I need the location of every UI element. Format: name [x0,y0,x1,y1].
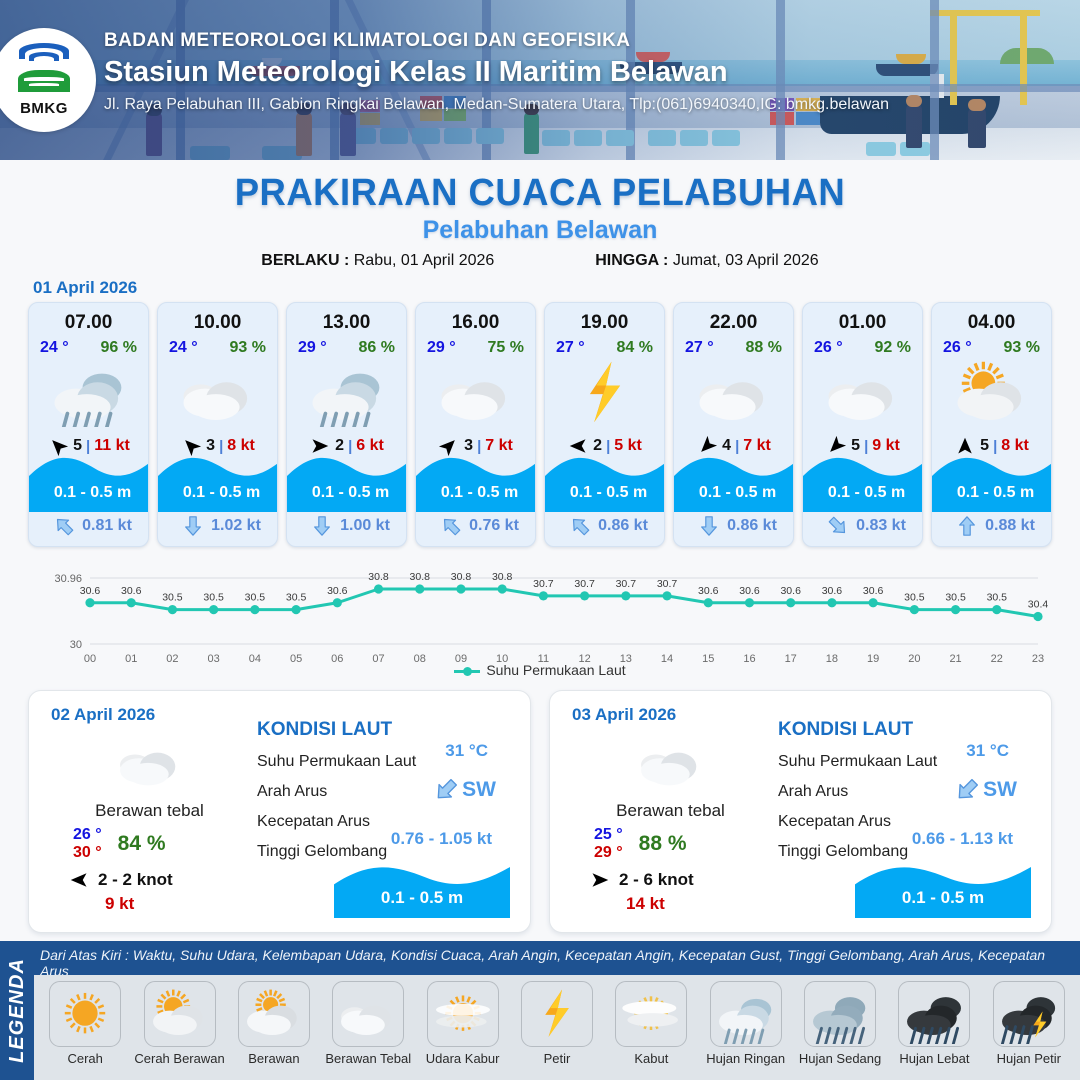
daily-weather-icon-berawan-tebal [568,735,773,793]
card-wave-graphic [416,450,536,512]
legend-item: Hujan Petir [982,981,1076,1066]
card-wave-graphic [674,450,794,512]
daily-weather-icon-berawan-tebal [47,735,252,793]
daily-wave-height: 0.1 - 0.5 m [855,888,1031,908]
legend-item: Cerah [38,981,132,1066]
daily-temp-min: 25 ° [594,826,623,843]
svg-text:30.96: 30.96 [54,573,82,585]
card-current-row: 0.88 kt [932,512,1052,540]
current-direction-value: SW [983,778,1017,802]
legend-icon-udara-kabur [427,981,499,1047]
daily-forecast-panel[interactable]: 03 April 2026 Berawan tebal 25 ° 29 ° 88… [549,690,1052,933]
current-speed-value: 0.66 - 1.13 kt [912,829,1013,849]
card-wave-height: 0.1 - 0.5 m [803,484,923,502]
valid-until-value: Jumat, 03 April 2026 [673,252,819,269]
svg-text:30.7: 30.7 [616,578,637,590]
legend-icon-hujan-ringan [710,981,782,1047]
forecast-card[interactable]: 16.00 29 ° 75 % 3 | 7 kt 0.1 - 0.5 m 0.7… [415,302,536,547]
daily-panel-row: 02 April 2026 Berawan tebal 26 ° 30 ° 84… [28,690,1052,933]
valid-until-label: HINGGA : [595,252,668,269]
legend-icon-hujan-sedang [804,981,876,1047]
card-time: 16.00 [452,312,500,334]
card-current-row: 1.00 kt [287,512,407,540]
wind-direction-arrow-icon [588,871,612,889]
card-current-speed: 1.02 kt [211,517,261,535]
card-current-row: 1.02 kt [158,512,278,540]
card-weather-icon-hujan-ringan [287,359,406,431]
card-wave-height: 0.1 - 0.5 m [932,484,1052,502]
card-wave-graphic [29,450,149,512]
legend-item: Hujan Sedang [793,981,887,1066]
forecast-card[interactable]: 04.00 26 ° 93 % 5 | 8 kt 0.1 - 0.5 m 0.8… [931,302,1052,547]
card-humidity: 93 % [1004,339,1040,357]
header-text-block: BADAN METEOROLOGI KLIMATOLOGI DAN GEOFIS… [104,30,1064,114]
current-direction-block: SW [433,777,496,803]
svg-text:30.6: 30.6 [80,585,101,597]
legend-item: Hujan Ringan [699,981,793,1066]
card-current-row: 0.81 kt [29,512,149,540]
svg-text:30.5: 30.5 [286,592,307,604]
wind-direction-arrow-icon [67,871,91,889]
page-subtitle: Pelabuhan Belawan [0,216,1080,245]
svg-text:30.6: 30.6 [698,585,719,597]
daily-wind-row: 2 - 6 knot [568,870,773,890]
daily-wind-range: 2 - 6 knot [619,870,694,890]
station-name: Stasiun Meteorologi Kelas II Maritim Bel… [104,56,1064,89]
legend-item: Berawan Tebal [321,981,415,1066]
daily-date: 02 April 2026 [51,705,155,725]
svg-text:30.6: 30.6 [121,585,142,597]
daily-wave-height: 0.1 - 0.5 m [334,888,510,908]
card-current-speed: 1.00 kt [340,517,390,535]
legend-item-label: Berawan Tebal [325,1051,411,1066]
sea-conditions-title: KONDISI LAUT [257,719,518,741]
card-current-speed: 0.81 kt [82,517,132,535]
card-wave-graphic [932,450,1052,512]
card-temperature: 26 ° [943,339,972,357]
daily-sea-conditions: KONDISI LAUT Suhu Permukaan Laut Arah Ar… [778,719,1039,924]
forecast-card[interactable]: 22.00 27 ° 88 % 4 | 7 kt 0.1 - 0.5 m 0.8… [673,302,794,547]
card-current-speed: 0.76 kt [469,517,519,535]
svg-text:30.6: 30.6 [780,585,801,597]
svg-text:30.8: 30.8 [492,571,513,583]
svg-text:30.5: 30.5 [162,592,183,604]
card-wave-height: 0.1 - 0.5 m [674,484,794,502]
svg-text:30: 30 [70,639,82,651]
logo-text: BMKG [20,100,68,117]
forecast-date-label: 01 April 2026 [33,278,137,298]
legend-item-label: Hujan Sedang [799,1051,881,1066]
current-direction-arrow-icon [954,777,980,803]
card-current-speed: 0.88 kt [985,517,1035,535]
card-temperature: 24 ° [169,339,198,357]
card-time: 22.00 [710,312,758,334]
card-weather-icon-hujan-ringan [29,359,148,431]
legend-item-label: Hujan Petir [997,1051,1061,1066]
svg-text:30.5: 30.5 [245,592,266,604]
card-temperature: 26 ° [814,339,843,357]
daily-wind-row: 2 - 2 knot [47,870,252,890]
card-weather-icon-berawan-tebal [158,359,277,431]
valid-from-label: BERLAKU : [261,252,349,269]
legend-item-label: Udara Kabur [426,1051,500,1066]
daily-condition: Berawan tebal [568,801,773,821]
svg-text:30.7: 30.7 [533,578,554,590]
card-time: 07.00 [65,312,113,334]
header-banner: BMKG BADAN METEOROLOGI KLIMATOLOGI DAN G… [0,0,1080,160]
card-humidity: 92 % [875,339,911,357]
card-time: 04.00 [968,312,1016,334]
forecast-card[interactable]: 13.00 29 ° 86 % 2 | 6 kt 0.1 - 0.5 m 1.0… [286,302,407,547]
svg-text:30.7: 30.7 [574,578,595,590]
chart-legend: Suhu Permukaan Laut [0,662,1080,678]
daily-temp-max: 29 ° [594,844,623,861]
card-weather-icon-cerah-berawan [932,359,1051,431]
svg-text:30.8: 30.8 [410,571,431,583]
page-title: PRAKIRAAN CUACA PELABUHAN [22,172,1059,215]
current-direction-arrow-icon [956,514,978,538]
legend-icon-petir [521,981,593,1047]
card-current-row: 0.83 kt [803,512,923,540]
card-weather-icon-berawan-tebal [803,359,922,431]
svg-text:30.5: 30.5 [203,592,224,604]
current-direction-arrow-icon [182,514,204,538]
current-direction-arrow-icon [827,514,849,538]
forecast-card-row: 07.00 24 ° 96 % 5 | 11 kt 0.1 - 0.5 m 0.… [28,302,1052,547]
current-direction-arrow-icon [569,514,591,538]
card-wave-height: 0.1 - 0.5 m [416,484,536,502]
daily-forecast-panel[interactable]: 02 April 2026 Berawan tebal 26 ° 30 ° 84… [28,690,531,933]
card-humidity: 96 % [101,339,137,357]
card-wave-graphic [803,450,923,512]
legend-icon-hujan-lebat [898,981,970,1047]
card-temperature: 27 ° [556,339,585,357]
forecast-card[interactable]: 07.00 24 ° 96 % 5 | 11 kt 0.1 - 0.5 m 0.… [28,302,149,547]
legend-item: Kabut [604,981,698,1066]
legend-item: Cerah Berawan [132,981,226,1066]
daily-temperature-block: 26 ° 30 ° 84 % [47,826,252,863]
card-temperature: 29 ° [298,339,327,357]
legend-icon-cerah [49,981,121,1047]
forecast-card[interactable]: 19.00 27 ° 84 % 2 | 5 kt 0.1 - 0.5 m 0.8… [544,302,665,547]
svg-text:30.5: 30.5 [904,592,925,604]
daily-humidity: 88 % [639,832,687,856]
daily-humidity: 84 % [118,832,166,856]
station-address: Jl. Raya Pelabuhan III, Gabion Ringkai B… [104,96,1064,114]
legend-icon-berawan [238,981,310,1047]
card-current-row: 0.76 kt [416,512,536,540]
legend-item-label: Cerah [67,1051,102,1066]
current-direction-arrow-icon [440,514,462,538]
card-temperature: 24 ° [40,339,69,357]
daily-condition: Berawan tebal [47,801,252,821]
legend-tab: LEGENDA [0,941,34,1080]
svg-text:30.7: 30.7 [657,578,678,590]
daily-temperature-block: 25 ° 29 ° 88 % [568,826,773,863]
legend-item-label: Hujan Lebat [899,1051,969,1066]
card-weather-icon-berawan-tebal [674,359,793,431]
forecast-card[interactable]: 01.00 26 ° 92 % 5 | 9 kt 0.1 - 0.5 m 0.8… [802,302,923,547]
card-wave-graphic [287,450,407,512]
svg-text:30.6: 30.6 [739,585,760,597]
card-current-speed: 0.83 kt [856,517,906,535]
daily-left-column: Berawan tebal 26 ° 30 ° 84 % 2 - 2 knot … [47,735,252,914]
current-speed-value: 0.76 - 1.05 kt [391,829,492,849]
card-time: 19.00 [581,312,629,334]
card-humidity: 88 % [746,339,782,357]
validity-row: BERLAKU : Rabu, 01 April 2026 HINGGA : J… [0,252,1080,270]
card-humidity: 93 % [230,339,266,357]
legend-item-label: Petir [544,1051,571,1066]
daily-gust: 14 kt [568,894,773,914]
card-current-speed: 0.86 kt [598,517,648,535]
legend-tab-label: LEGENDA [6,958,29,1063]
legend-icon-berawan-tebal [332,981,404,1047]
daily-gust: 9 kt [47,894,252,914]
svg-text:30.5: 30.5 [987,592,1008,604]
card-current-speed: 0.86 kt [727,517,777,535]
daily-left-column: Berawan tebal 25 ° 29 ° 88 % 2 - 6 knot … [568,735,773,914]
card-humidity: 84 % [617,339,653,357]
card-wave-graphic [545,450,665,512]
current-direction-arrow-icon [53,514,75,538]
card-time: 01.00 [839,312,887,334]
current-direction-arrow-icon [311,514,333,538]
sea-surface-temp-value: 31 °C [445,741,488,761]
agency-name: BADAN METEOROLOGI KLIMATOLOGI DAN GEOFIS… [104,30,1064,52]
legend-item: Hujan Lebat [887,981,981,1066]
svg-text:30.8: 30.8 [451,571,472,583]
legend-item-label: Kabut [634,1051,668,1066]
card-current-row: 0.86 kt [674,512,794,540]
legend-item-label: Cerah Berawan [134,1051,224,1066]
card-time: 13.00 [323,312,371,334]
card-weather-icon-petir [545,359,664,431]
card-humidity: 86 % [359,339,395,357]
forecast-card[interactable]: 10.00 24 ° 93 % 3 | 8 kt 0.1 - 0.5 m 1.0… [157,302,278,547]
legend-item-row: Cerah Cerah Berawan Berawan Berawan Teba… [34,975,1080,1080]
daily-temp-max: 30 ° [73,844,102,861]
svg-text:30.6: 30.6 [822,585,843,597]
card-weather-icon-berawan-tebal [416,359,535,431]
svg-text:30.5: 30.5 [945,592,966,604]
current-direction-value: SW [462,778,496,802]
svg-text:30.4: 30.4 [1028,599,1049,611]
svg-text:30.8: 30.8 [368,571,389,583]
card-wave-height: 0.1 - 0.5 m [29,484,149,502]
card-wave-height: 0.1 - 0.5 m [158,484,278,502]
legend-icon-hujan-petir [993,981,1065,1047]
sea-conditions-title: KONDISI LAUT [778,719,1039,741]
sea-surface-temp-value: 31 °C [966,741,1009,761]
legend-item: Berawan [227,981,321,1066]
logo-green-icon [15,70,73,98]
svg-text:30.6: 30.6 [327,585,348,597]
card-wave-graphic [158,450,278,512]
legend-item: Petir [510,981,604,1066]
logo-arcs-icon [15,43,73,69]
card-wave-height: 0.1 - 0.5 m [545,484,665,502]
svg-text:30.6: 30.6 [863,585,884,597]
daily-sea-conditions: KONDISI LAUT Suhu Permukaan Laut Arah Ar… [257,719,518,924]
current-direction-arrow-icon [698,514,720,538]
legend-icon-kabut [615,981,687,1047]
current-direction-arrow-icon [433,777,459,803]
daily-temp-min: 26 ° [73,826,102,843]
card-current-row: 0.86 kt [545,512,665,540]
legend-item-label: Hujan Ringan [706,1051,785,1066]
valid-from-value: Rabu, 01 April 2026 [354,252,495,269]
card-humidity: 75 % [488,339,524,357]
chart-legend-marker-icon [454,670,480,673]
card-wave-height: 0.1 - 0.5 m [287,484,407,502]
legend-item: Udara Kabur [415,981,509,1066]
daily-wind-range: 2 - 2 knot [98,870,173,890]
legend-item-label: Berawan [248,1051,299,1066]
daily-date: 03 April 2026 [572,705,676,725]
legend-bar: LEGENDA Dari Atas Kiri : Waktu, Suhu Uda… [0,941,1080,1080]
card-temperature: 29 ° [427,339,456,357]
legend-icon-cerah-berawan [144,981,216,1047]
card-temperature: 27 ° [685,339,714,357]
current-direction-block: SW [954,777,1017,803]
chart-legend-label: Suhu Permukaan Laut [486,662,625,678]
card-time: 10.00 [194,312,242,334]
